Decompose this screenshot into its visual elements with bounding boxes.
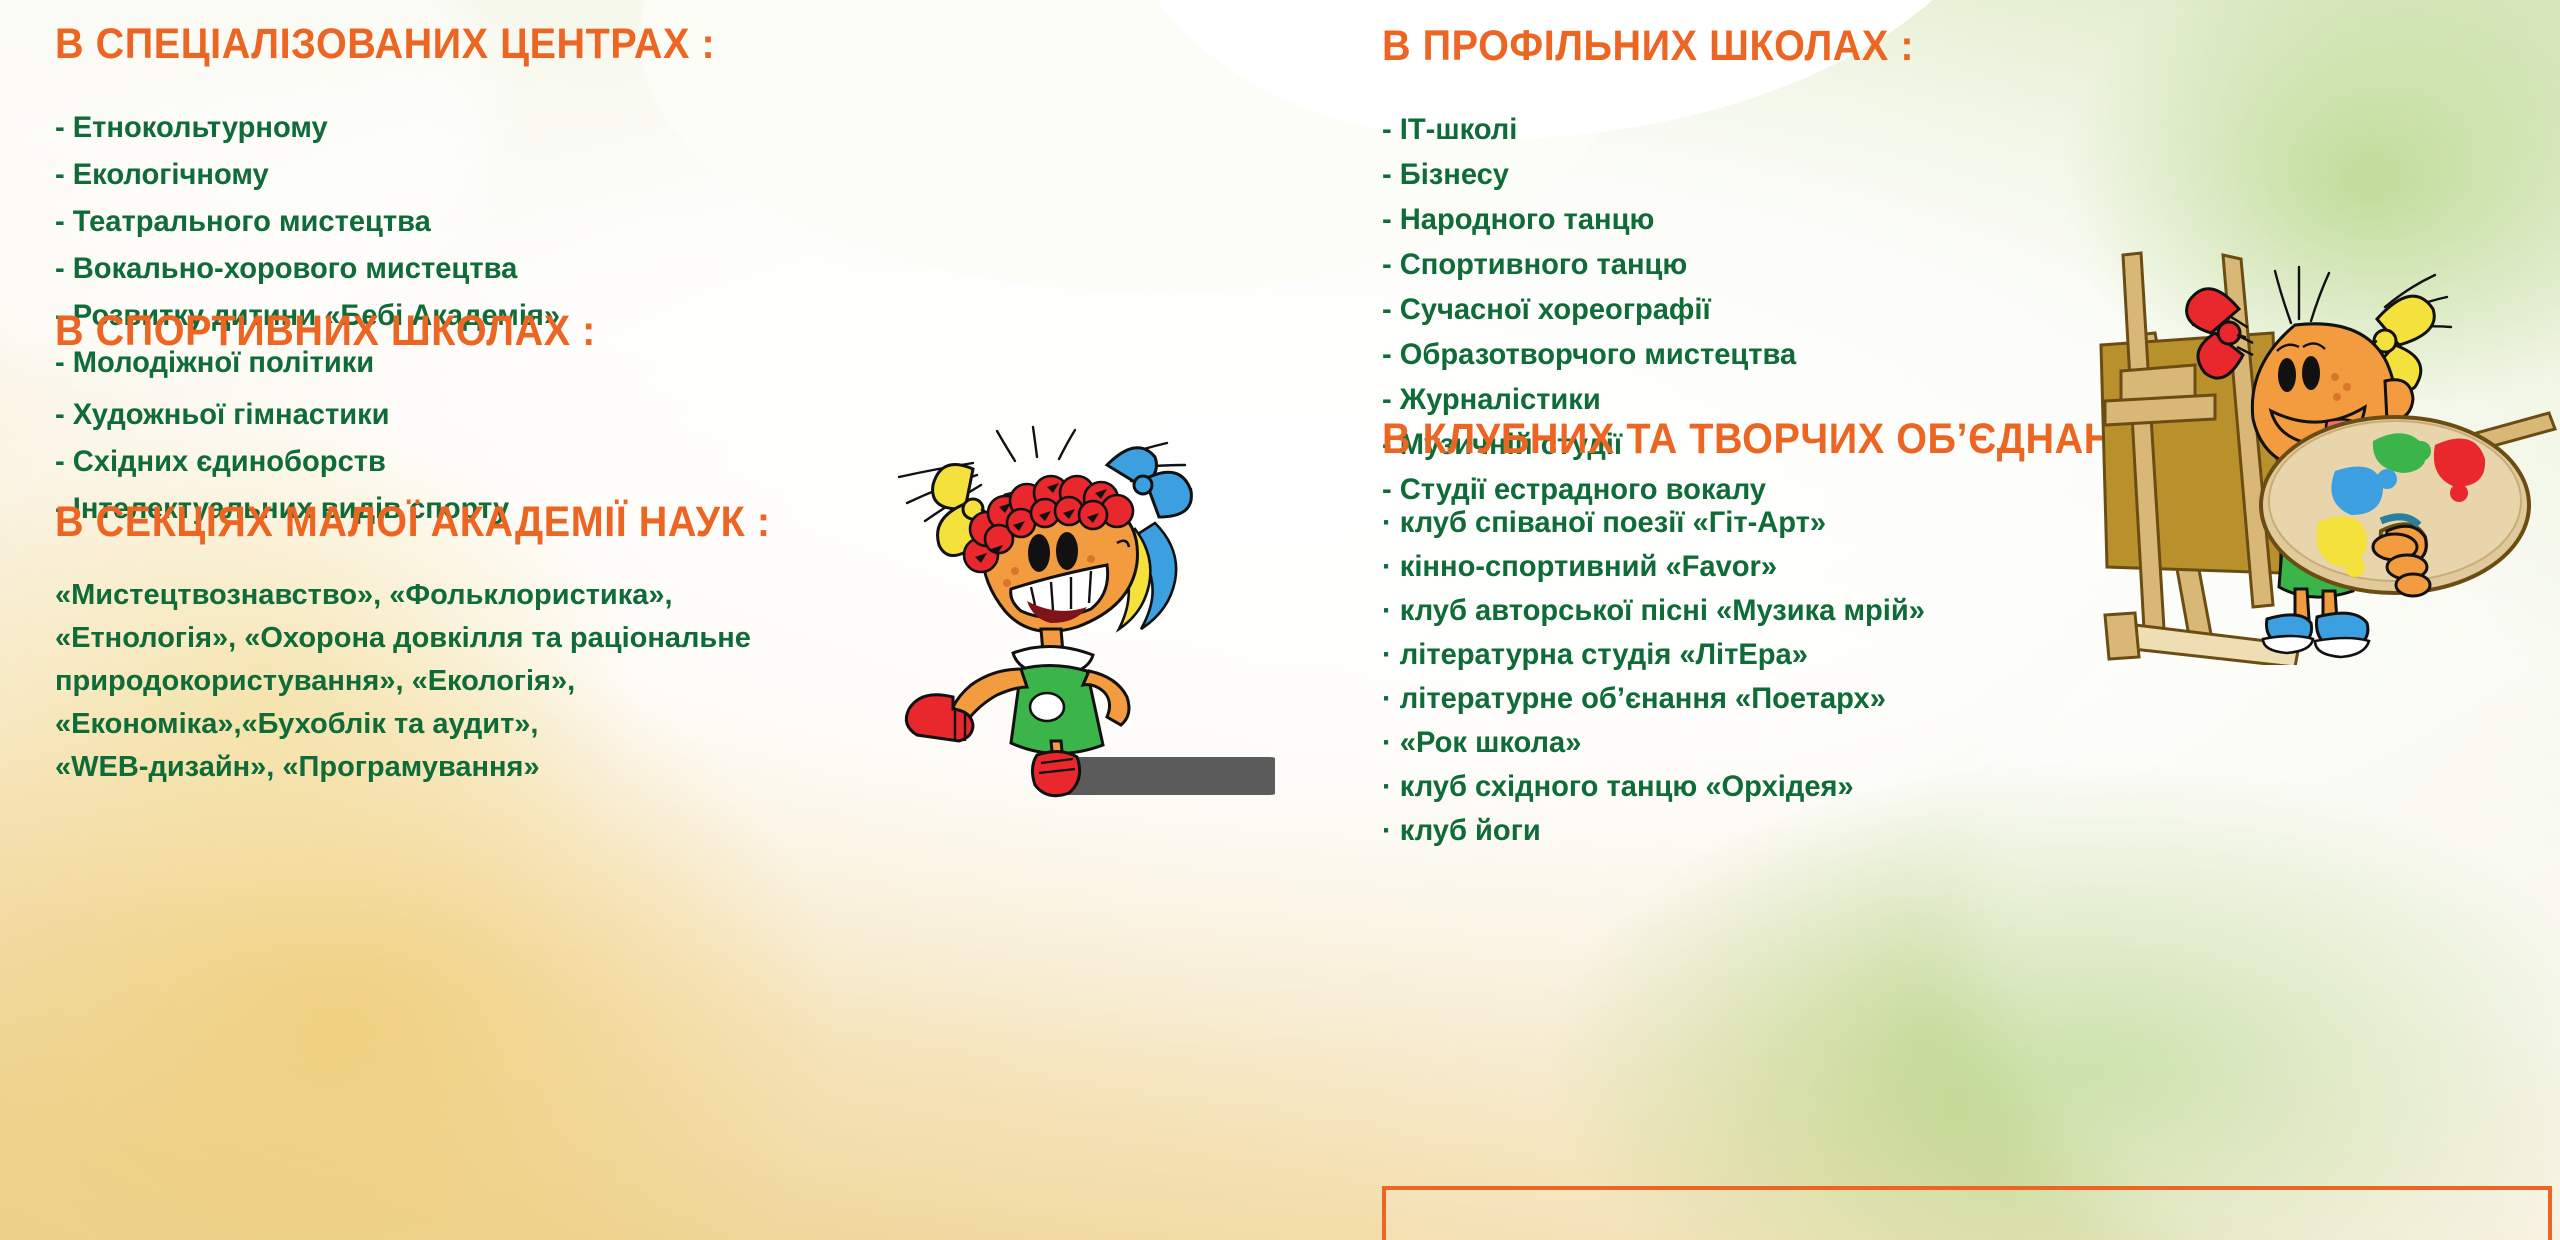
paragraph-line: природокористування», «Екологія», (55, 667, 833, 696)
section-minor-academy-of-sciences: В СЕКЦІЯХ МАЛОЇ АКАДЕМІЇ НАУК : «Мистецт… (55, 500, 833, 796)
list-item: - Театрального мистецтва (55, 207, 751, 237)
list-item: · клуб східного танцю «Орхідея» (1382, 772, 2269, 802)
heading-profile-schools: В ПРОФІЛЬНИХ ШКОЛАХ : (1382, 24, 1914, 69)
list-item: - Вокально-хорового мистецтва (55, 254, 751, 284)
cartoon-painter-at-easel-icon (2095, 215, 2560, 665)
list-item: - Бізнесу (1382, 160, 1943, 190)
paragraph-line: «Економіка»,«Бухоблік та аудит», (55, 710, 833, 739)
list-item: · клуб йоги (1382, 816, 2269, 846)
poster-canvas: В СПЕЦІАЛІЗОВАНИХ ЦЕНТРАХ : - Етнокольту… (0, 0, 2560, 1240)
paragraph-line: «WEB-дизайн», «Програмування» (55, 753, 833, 782)
list-item: - Спортивного танцю (1382, 250, 1943, 280)
list-item: - ІТ-школі (1382, 115, 1943, 145)
heading-minor-academy-of-sciences: В СЕКЦІЯХ МАЛОЇ АКАДЕМІЇ НАУК : (55, 500, 771, 545)
list-item: - Етнокольтурному (55, 113, 751, 143)
list-item: - Художньої гімнастики (55, 400, 625, 430)
list-item: - Народного танцю (1382, 205, 1943, 235)
list-item: - Образотворчого мистецтва (1382, 340, 1943, 370)
bottom-orange-frame (1382, 1186, 2552, 1240)
heading-specialized-centers: В СПЕЦІАЛІЗОВАНИХ ЦЕНТРАХ : (55, 22, 715, 67)
list-item: - Журналістики (1382, 385, 1943, 415)
cartoon-girl-dancer-icon (855, 425, 1275, 805)
paragraph-line: «Етнологія», «Охорона довкілля та раціон… (55, 624, 833, 653)
list-item: · «Рок школа» (1382, 728, 2269, 758)
paragraph-minor-academy-sections: «Мистецтвознавство», «Фольклористика», «… (55, 581, 833, 782)
list-item: · літературне об’єнання «Поетарх» (1382, 684, 2269, 714)
list-item: - Східних єдиноборств (55, 447, 625, 477)
heading-sport-schools: В СПОРТИВНИХ ШКОЛАХ : (55, 309, 596, 354)
list-item: - Екологічному (55, 160, 751, 190)
list-item: - Сучасної хореографії (1382, 295, 1943, 325)
paragraph-line: «Мистецтвознавство», «Фольклористика», (55, 581, 833, 610)
